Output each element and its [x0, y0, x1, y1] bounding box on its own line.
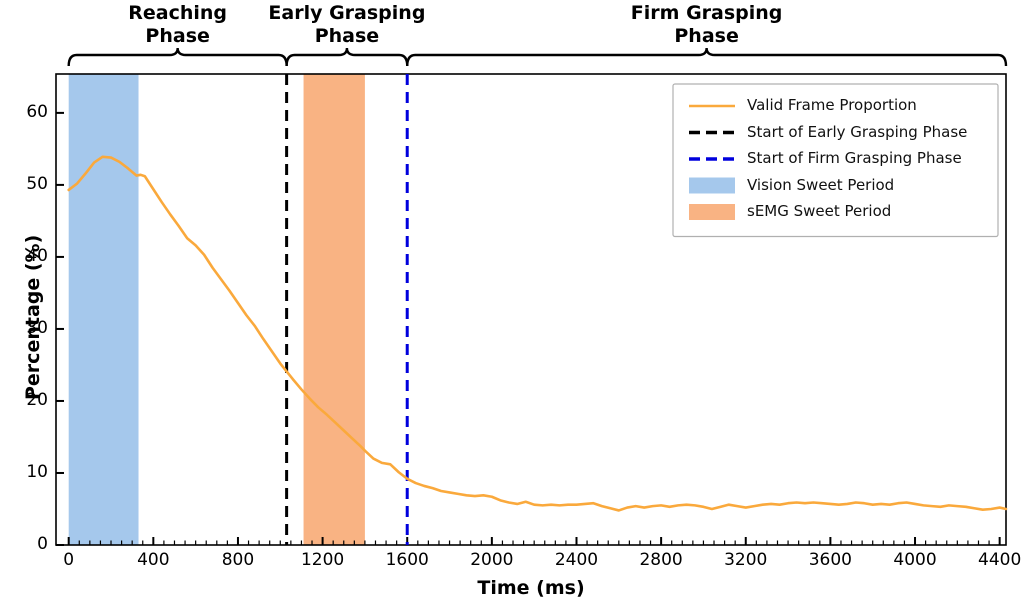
legend-label-0: Valid Frame Proportion [747, 96, 917, 114]
ytick-label-0: 0 [0, 534, 48, 554]
bracket-early-grasping-phase [287, 48, 408, 66]
ytick-label-60: 60 [0, 102, 48, 122]
xtick-label-4400: 4400 [958, 550, 1024, 570]
xtick-label-1600: 1600 [365, 550, 449, 570]
bracket-reaching-phase [69, 48, 287, 66]
phase-label-early-grasping-phase: Early Grasping Phase [187, 2, 507, 48]
x-axis-label: Time (ms) [381, 577, 681, 599]
legend-label-3: Vision Sweet Period [747, 176, 894, 194]
legend-label-1: Start of Early Grasping Phase [747, 123, 967, 141]
xtick-label-2800: 2800 [619, 550, 703, 570]
bracket-firm-grasping-phase [407, 48, 1006, 66]
y-axis-label: Percentage (%) [22, 234, 44, 399]
phase-label-firm-grasping-phase: Firm Grasping Phase [547, 2, 867, 48]
legend-label-2: Start of Firm Grasping Phase [747, 149, 962, 167]
xtick-label-4000: 4000 [873, 550, 957, 570]
xtick-label-2400: 2400 [534, 550, 618, 570]
phase-brackets [69, 48, 1006, 66]
shaded-period-spans [69, 74, 365, 545]
xtick-label-2000: 2000 [450, 550, 534, 570]
chart-figure [0, 0, 1024, 598]
span-semg-sweet-period [304, 74, 365, 545]
span-vision-sweet-period [69, 74, 139, 545]
ytick-label-10: 10 [0, 462, 48, 482]
xtick-label-400: 400 [111, 550, 195, 570]
legend-label-4: sEMG Sweet Period [747, 202, 891, 220]
xtick-label-800: 800 [196, 550, 280, 570]
legend-marker-patch-4 [689, 204, 735, 220]
xtick-label-3600: 3600 [788, 550, 872, 570]
ytick-label-50: 50 [0, 174, 48, 194]
legend-marker-patch-3 [689, 178, 735, 194]
xtick-label-1200: 1200 [281, 550, 365, 570]
xtick-label-3200: 3200 [704, 550, 788, 570]
